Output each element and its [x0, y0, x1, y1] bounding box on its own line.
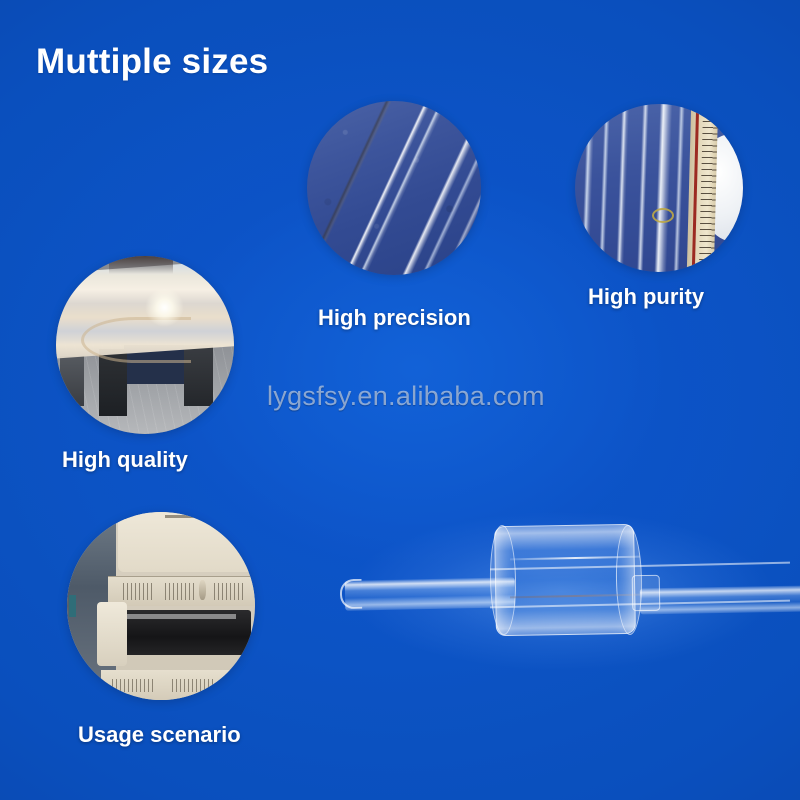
feature-label-high-purity: High purity [588, 284, 704, 310]
brass-ring [652, 208, 674, 223]
light-glare [145, 288, 184, 327]
quartz-ingot-photo [56, 256, 234, 434]
ruler [687, 104, 719, 272]
product-tube-left-cap [340, 579, 363, 609]
lab-furnace-photo [67, 512, 255, 700]
feature-label-usage-scenario: Usage scenario [78, 722, 241, 748]
feature-image-high-purity [575, 104, 743, 272]
background-teal-box [69, 595, 76, 618]
feature-image-high-precision [307, 101, 481, 275]
ruler-red-line [692, 104, 699, 272]
furnace-door [97, 602, 127, 666]
feature-label-high-precision: High precision [318, 305, 471, 331]
watermark: lygsfsy.en.alibaba.com [267, 381, 545, 412]
feature-label-high-quality: High quality [62, 447, 188, 473]
chamber-highlight [127, 614, 236, 620]
panel-vent-slots-left [123, 583, 153, 600]
support-block-left [60, 356, 85, 406]
product-banner: Muttiple sizes High precision High purit… [0, 0, 800, 800]
base-vent-slots-right [172, 679, 213, 692]
product-photo [340, 495, 800, 680]
ruler-ticks [699, 104, 719, 272]
feature-image-usage-scenario [67, 512, 255, 700]
product-neck-joint [632, 575, 661, 611]
furnace-hood [118, 512, 255, 572]
texture-speckles [307, 101, 481, 275]
quartz-tubes-photo [307, 101, 481, 275]
base-vent-slots-left [112, 679, 153, 692]
panel-vent-slots-center [165, 583, 195, 600]
feature-image-high-quality [56, 256, 234, 434]
panel-vent-slots-right [214, 583, 244, 600]
background-red-strip [68, 546, 79, 555]
quartz-rods-photo [575, 104, 743, 272]
furnace-latch-knob [199, 580, 207, 601]
page-title: Muttiple sizes [36, 42, 268, 82]
hood-vent-slots [165, 512, 255, 526]
ingot-top-shadow [109, 256, 173, 274]
